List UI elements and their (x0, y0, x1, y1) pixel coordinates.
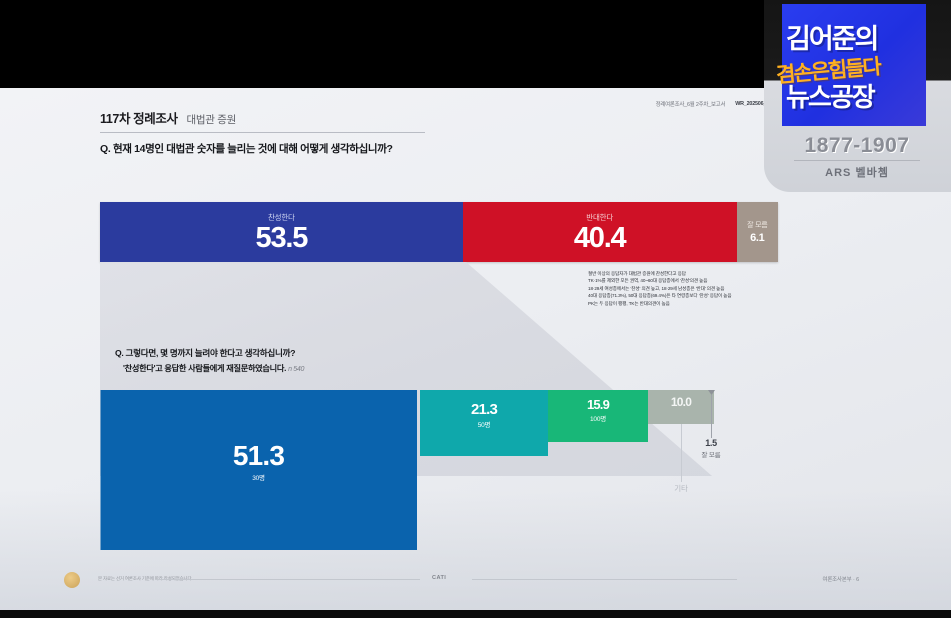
analysis-note-line-4: 40대 응답층(71.3%), 50대 응답층(69.4%)은 타 연령층보다 … (588, 292, 778, 299)
semicircle-chart: 51.3 30명 21.3 50명 15.9 (100, 390, 778, 570)
dome-50-caption: 50명 (420, 419, 548, 429)
branding-ars: ARS 벨바쳄 (782, 164, 932, 180)
analysis-note-line-1: 절반 이상의 응답자가 대법관 증원에 찬성한다고 응답 (588, 270, 778, 277)
slide-header: 117차 정례조사 대법관 증원 Q. 현재 14명인 대법관 숫자를 늘리는 … (100, 108, 660, 156)
bar-segment-oppose-label: 반대한다 (586, 212, 613, 223)
question-1: Q. 현재 14명인 대법관 숫자를 늘리는 것에 대해 어떻게 생각하십니까? (100, 141, 660, 156)
channel-branding: 김어준의 뉴스공장 겸손은힘들다 1877-1907 ARS 벨바쳄 (760, 0, 951, 192)
footer-page: 여론조사본부 · 6 (822, 575, 859, 583)
branding-divider (794, 160, 920, 161)
label-etc-caption: 기타 (655, 483, 707, 494)
dome-30-value: 51.3 (100, 442, 417, 470)
footer-logo-icon (64, 572, 80, 588)
question-2-line2-wrap: '찬성한다'고 응답한 사람들에게 재질문하였습니다. n 540 (115, 362, 304, 374)
bar-segment-dontknow-label: 잘 모름 (747, 220, 767, 230)
header-divider (100, 132, 425, 133)
bar-segment-agree: 찬성한다 53.5 (100, 202, 463, 262)
doc-meta-title: 정례여론조사_6월 2주차_보고서 (656, 100, 726, 108)
question-2-line2: '찬성한다'고 응답한 사람들에게 재질문하였습니다. (123, 364, 286, 373)
dome-100-value: 15.9 (548, 398, 648, 411)
label-dk: 1.5 잘 모름 (685, 438, 737, 459)
video-frame: 정례여론조사_6월 2주차_보고서 WR_202506_0 117차 정례조사 … (0, 0, 951, 618)
label-dk-caption: 잘 모름 (685, 449, 737, 459)
dome-etc-value: 10.0 (648, 396, 714, 408)
analysis-note-line-3: 18·29세 여성층에서는 '찬성' 의견 높고, 18·29세 남성층은 '반… (588, 285, 778, 292)
leader-line-dk (711, 395, 712, 438)
bar-segment-oppose: 반대한다 40.4 (463, 202, 737, 262)
dome-50-value: 21.3 (420, 402, 548, 417)
bar-segment-dontknow: 잘 모름 6.1 (737, 202, 778, 262)
leader-line-etc (681, 424, 682, 482)
section-number: 117차 정례조사 (100, 108, 178, 127)
document-meta: 정례여론조사_6월 2주차_보고서 WR_202506_0 (656, 100, 769, 108)
section-topic: 대법관 증원 (187, 112, 236, 127)
dome-100-text: 15.9 100명 (548, 398, 648, 423)
branding-line3: 뉴스공장 (786, 84, 926, 110)
footer-divider-right (472, 579, 737, 580)
dome-30: 51.3 30명 (100, 390, 417, 550)
bar-segment-oppose-value: 40.4 (574, 224, 626, 253)
stacked-bar-chart: 찬성한다 53.5 반대한다 40.4 잘 모름 6.1 (100, 202, 778, 262)
bar-segment-agree-label: 찬성한다 (268, 212, 295, 223)
footer-method: CATI (432, 575, 446, 581)
branding-phone: 1877-1907 (782, 134, 932, 158)
label-dk-value: 1.5 (685, 438, 737, 448)
dome-etc: 10.0 (648, 390, 714, 424)
slide-footer: 본 자료는 선거 여론조사 기준에 따라 작성되었습니다 CATI 여론조사본부… (0, 570, 951, 592)
dome-30-caption: 30명 (100, 472, 417, 482)
analysis-note: 절반 이상의 응답자가 대법관 증원에 찬성한다고 응답 TK·1%를 제외한 … (588, 270, 778, 307)
bar-segment-dontknow-value: 6.1 (750, 233, 764, 244)
question-2-base: n 540 (288, 366, 304, 373)
analysis-note-line-2: TK·1%를 제외한 모든 권역, 40~60대 응답층에서 '찬성'의견 높음 (588, 277, 778, 284)
question-2-line1: Q. 그렇다면, 몇 명까지 늘려야 한다고 생각하십니까? (115, 347, 304, 359)
label-etc: 기타 (655, 482, 707, 494)
dome-50: 21.3 50명 (420, 390, 548, 456)
letterbox-bottom (0, 610, 951, 618)
dome-30-text: 51.3 30명 (100, 442, 417, 482)
question-2-block: Q. 그렇다면, 몇 명까지 늘려야 한다고 생각하십니까? '찬성한다'고 응… (115, 347, 304, 374)
analysis-note-line-5: PK는 두 응답이 팽팽, TK는 반대의견이 높음 (588, 300, 778, 307)
dome-etc-text: 10.0 (648, 396, 714, 408)
dome-50-text: 21.3 50명 (420, 402, 548, 429)
footer-divider-left (155, 579, 420, 580)
bar-segment-agree-value: 53.5 (256, 224, 308, 253)
branding-line1: 김어준의 (786, 26, 926, 53)
dome-100: 15.9 100명 (548, 390, 648, 442)
dome-100-caption: 100명 (548, 413, 648, 423)
